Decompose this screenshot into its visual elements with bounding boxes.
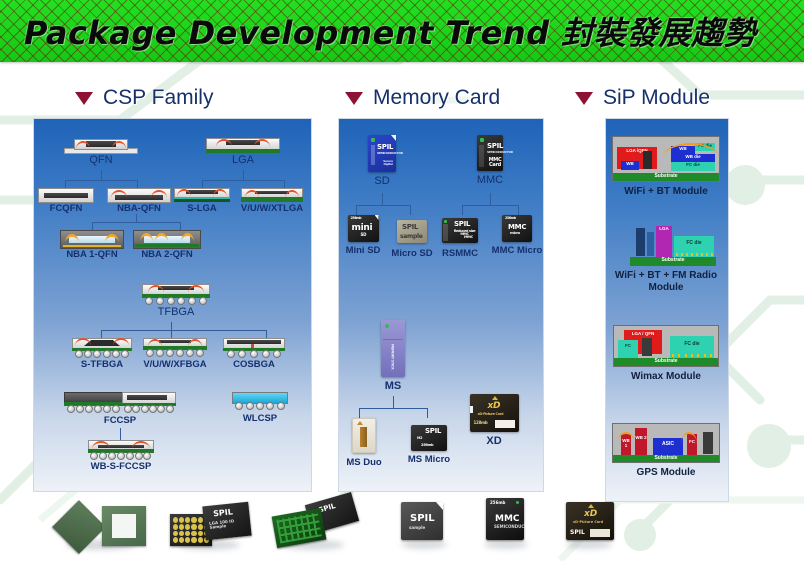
card-icon-mmc: SPIL SEMICONDUCTOR MMC Card [477,135,503,171]
package-icon-lga [206,136,280,154]
package-icon-wlcsp [232,392,288,412]
card-sub: MMC Card [487,158,503,168]
node-mmc-micro: 256mb MMC micro MMC Micro [490,215,544,256]
node-wifi-bt-module: LGA /QFN WB WB FC die WB die FC die Subs… [609,136,723,198]
node-gps-module: WB 1 WB 2 ASIC FC Substrate GPS Module [609,423,723,479]
column-heading-label: CSP Family [103,86,213,110]
card-sub: micro [510,232,520,236]
photo-sub: sample [409,526,425,530]
node-s-tfbga: S-TFBGA [71,338,133,370]
column-heading-label: Memory Card [373,86,500,110]
package-icon-cosbga [223,338,285,358]
sip-figure-wifi-bt: LGA /QFN WB WB FC die WB die FC die Subs… [612,136,720,182]
node-micro-sd: SPIL sample Micro SD [388,220,436,259]
card-sub: 256mb [421,444,433,448]
card-icon-xd: xD xD-Picture Card 128mb [470,394,519,432]
node-tfbga: TFBGA [136,284,216,318]
photo-sub: LGA 100 IO Sample [209,518,251,530]
node-ms: MEMORY STICK MS [365,320,421,392]
card-icon-micro-sd: SPIL sample [397,220,427,243]
card-icon-ms-duo [352,418,376,453]
sip-figure-wimax: LGA / QFN FC FC die Substrate [613,325,719,367]
card-sub: Secure Digital [380,160,396,166]
photo-module-chip-pair: SPIL [272,496,362,550]
card-sub: 128mb [474,421,488,425]
node-vuwxfbga: V/U/W/XFBGA [137,338,213,370]
node-vuwxtlga: V/U/W/XTLGA [236,188,308,214]
sip-figure-wifi-bt-fm: LGA FC die Substrate [616,224,716,266]
card-icon-mini-sd: 256mb mini SD [348,215,379,242]
photo-xd-card: xD xD-Picture Card SPIL [558,498,620,550]
title-bar: Package Development Trend 封裝發展趨勢 [0,0,804,62]
package-icon-fccsp [64,392,176,414]
photo-sub: 256mb [490,501,505,505]
node-wifi-bt-fm-module: LGA FC die Substrate WiFi + BT + FM Radi… [609,224,723,294]
photo-brand: SPIL [213,508,233,518]
node-nba-2-qfn: NBA 2-QFN [130,230,204,260]
node-ms-duo: MS Duo [340,418,388,468]
node-ms-micro: SPIL M2 256mb MS Micro [400,425,458,465]
photo-sd-card: SPIL sample [395,498,455,550]
package-icon-vuwxfbga [143,338,207,358]
card-brand: xD [488,402,501,411]
package-icon-s-tfbga [72,338,132,358]
photo-mmc-card: 256mb MMC SEMICONDUCTOR [478,496,536,550]
node-mini-sd: 256mb mini SD Mini SD [340,215,386,256]
card-icon-rsmmc: SPIL Reduced size MMC MMC [442,218,478,243]
node-cosbga: COSBGA [222,338,286,370]
column-heading-csp: CSP Family [75,86,213,110]
photo-bga-chip-pair: SPIL LGA 100 IO Sample [170,498,256,550]
card-sub: sample [400,234,423,240]
card-icon-mmc-micro: 256mb MMC micro [502,215,532,242]
node-s-lga: S-LGA [172,188,232,214]
node-xd: xD xD-Picture Card 128mb XD [466,394,522,447]
photo-brand: MMC [495,515,520,524]
column-heading-sip: SiP Module [575,86,710,110]
triangle-down-icon [75,92,93,105]
card-icon-ms-micro: SPIL M2 256mb [411,425,447,451]
card-brand: SPIL [425,428,441,435]
sip-figure-gps: WB 1 WB 2 ASIC FC Substrate [612,423,720,463]
node-wlcsp: WLCSP [225,392,295,424]
node-wb-s-fccsp: WB-S-FCCSP [78,440,164,472]
column-heading-label: SiP Module [603,86,710,110]
node-fccsp: FCCSP [62,392,178,426]
package-icon-qfn [64,136,138,154]
node-mmc: SPIL SEMICONDUCTOR MMC Card MMC [460,135,520,186]
node-nba-1-qfn: NBA 1-QFN [57,230,127,260]
package-icon-nba-qfn [107,188,171,202]
node-lga: LGA [198,136,288,166]
card-icon-ms: MEMORY STICK [381,320,405,377]
package-icon-wb-s-fccsp [88,440,154,460]
node-rsmmc: SPIL Reduced size MMC MMC RSMMC [436,218,484,259]
package-icon-vuwxtlga [241,188,303,202]
photo-sub: SPIL [570,530,585,536]
triangle-down-icon [345,92,363,105]
column-heading-memory: Memory Card [345,86,500,110]
node-fcqfn: FCQFN [35,188,97,214]
package-icon-nba-2-qfn [133,230,201,248]
card-brand: MMC [508,224,526,231]
node-nba-qfn: NBA-QFN [104,188,174,214]
card-brand: SPIL [487,143,503,150]
node-wimax-module: LGA / QFN FC FC die Substrate Wimax Modu… [609,325,723,383]
node-qfn: QFN [56,136,146,166]
triangle-down-icon [575,92,593,105]
page-title: Package Development Trend 封裝發展趨勢 [24,8,756,54]
package-icon-nba-1-qfn [60,230,124,248]
package-icon-fcqfn [38,188,94,202]
photo-brand: SPIL [410,514,435,524]
package-icon-s-lga [174,188,230,202]
card-brand: SPIL [454,221,470,228]
photo-brand: xD [584,510,597,519]
card-sub: MEMORY STICK [390,344,393,370]
package-icon-tfbga [142,284,210,306]
card-icon-sd: SPIL SEMICONDUCTOR Secure Digital [368,135,396,172]
card-brand: SPIL [377,144,393,151]
node-sd: SPIL SEMICONDUCTOR Secure Digital SD [352,135,412,187]
card-brand: SPIL [402,224,418,231]
product-photo-strip: SPIL LGA 100 IO Sample SPIL SPIL sample … [0,488,804,561]
photo-green-substrate-pair [58,498,154,550]
